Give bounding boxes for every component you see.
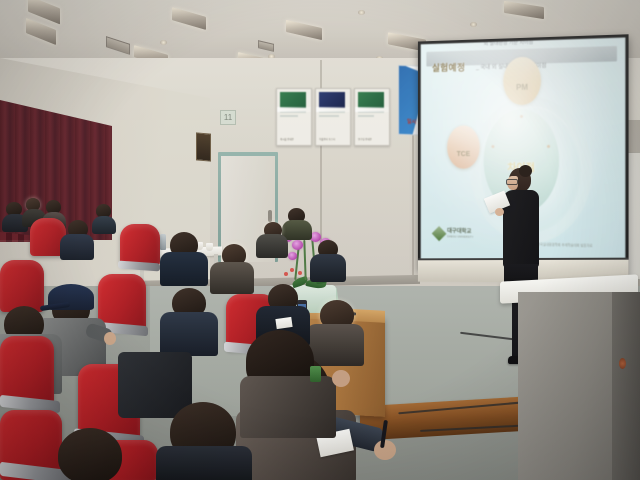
lectern-knob[interactable]	[619, 358, 626, 369]
seat-frame	[118, 261, 160, 272]
slide-bubble-tce: TCE	[447, 125, 480, 168]
poster-header	[319, 92, 345, 108]
hand	[332, 370, 350, 387]
ceiling-light	[172, 7, 206, 30]
auditorium-seat[interactable]	[0, 336, 54, 404]
ceiling-vent	[258, 40, 274, 52]
ceiling-light	[26, 18, 56, 45]
poster-caption: 연구실 안내문	[358, 138, 386, 141]
wall-poster: 게시물 안내문	[276, 88, 312, 146]
beverage-can	[310, 366, 321, 382]
ceiling-speaker-icon	[160, 40, 167, 45]
banner-date-prefix: 일시	[407, 118, 416, 125]
slide-title: 실험예정	[432, 61, 465, 75]
poster-glare	[316, 107, 350, 112]
poster-glare	[355, 107, 389, 112]
lecture-hall-photo: 11 게시물 안내문 학술행사 포스터 연구실 안내문 대구 대 일시 2009…	[0, 0, 640, 480]
ceiling-speaker-icon	[358, 10, 365, 15]
auditorium-seat[interactable]	[120, 224, 160, 266]
wall-speaker-icon	[196, 132, 211, 161]
audience-area	[0, 196, 470, 480]
hand	[104, 332, 116, 345]
lectern-side-panel	[612, 292, 640, 480]
ceiling-vent	[106, 36, 130, 55]
slide-title-top: 외 실내환경 기준 치이점	[484, 39, 533, 48]
wall-poster: 연구실 안내문	[354, 88, 390, 146]
glasses-icon	[506, 179, 518, 185]
wall-clock: 11	[220, 110, 236, 125]
wall-poster: 학술행사 포스터	[315, 88, 351, 146]
ceiling-light	[504, 1, 544, 19]
presenter-hair-bun	[519, 165, 532, 177]
poster-caption: 학술행사 포스터	[319, 138, 347, 141]
poster-caption: 게시물 안내문	[280, 138, 308, 141]
ceiling-speaker-icon	[470, 22, 477, 27]
poster-header	[358, 92, 384, 108]
hand	[374, 440, 396, 460]
auditorium-seat[interactable]	[0, 260, 44, 312]
presenter-hand	[495, 208, 504, 216]
poster-header	[280, 92, 306, 108]
poster-glare	[277, 107, 311, 112]
ceiling-light	[286, 20, 322, 40]
